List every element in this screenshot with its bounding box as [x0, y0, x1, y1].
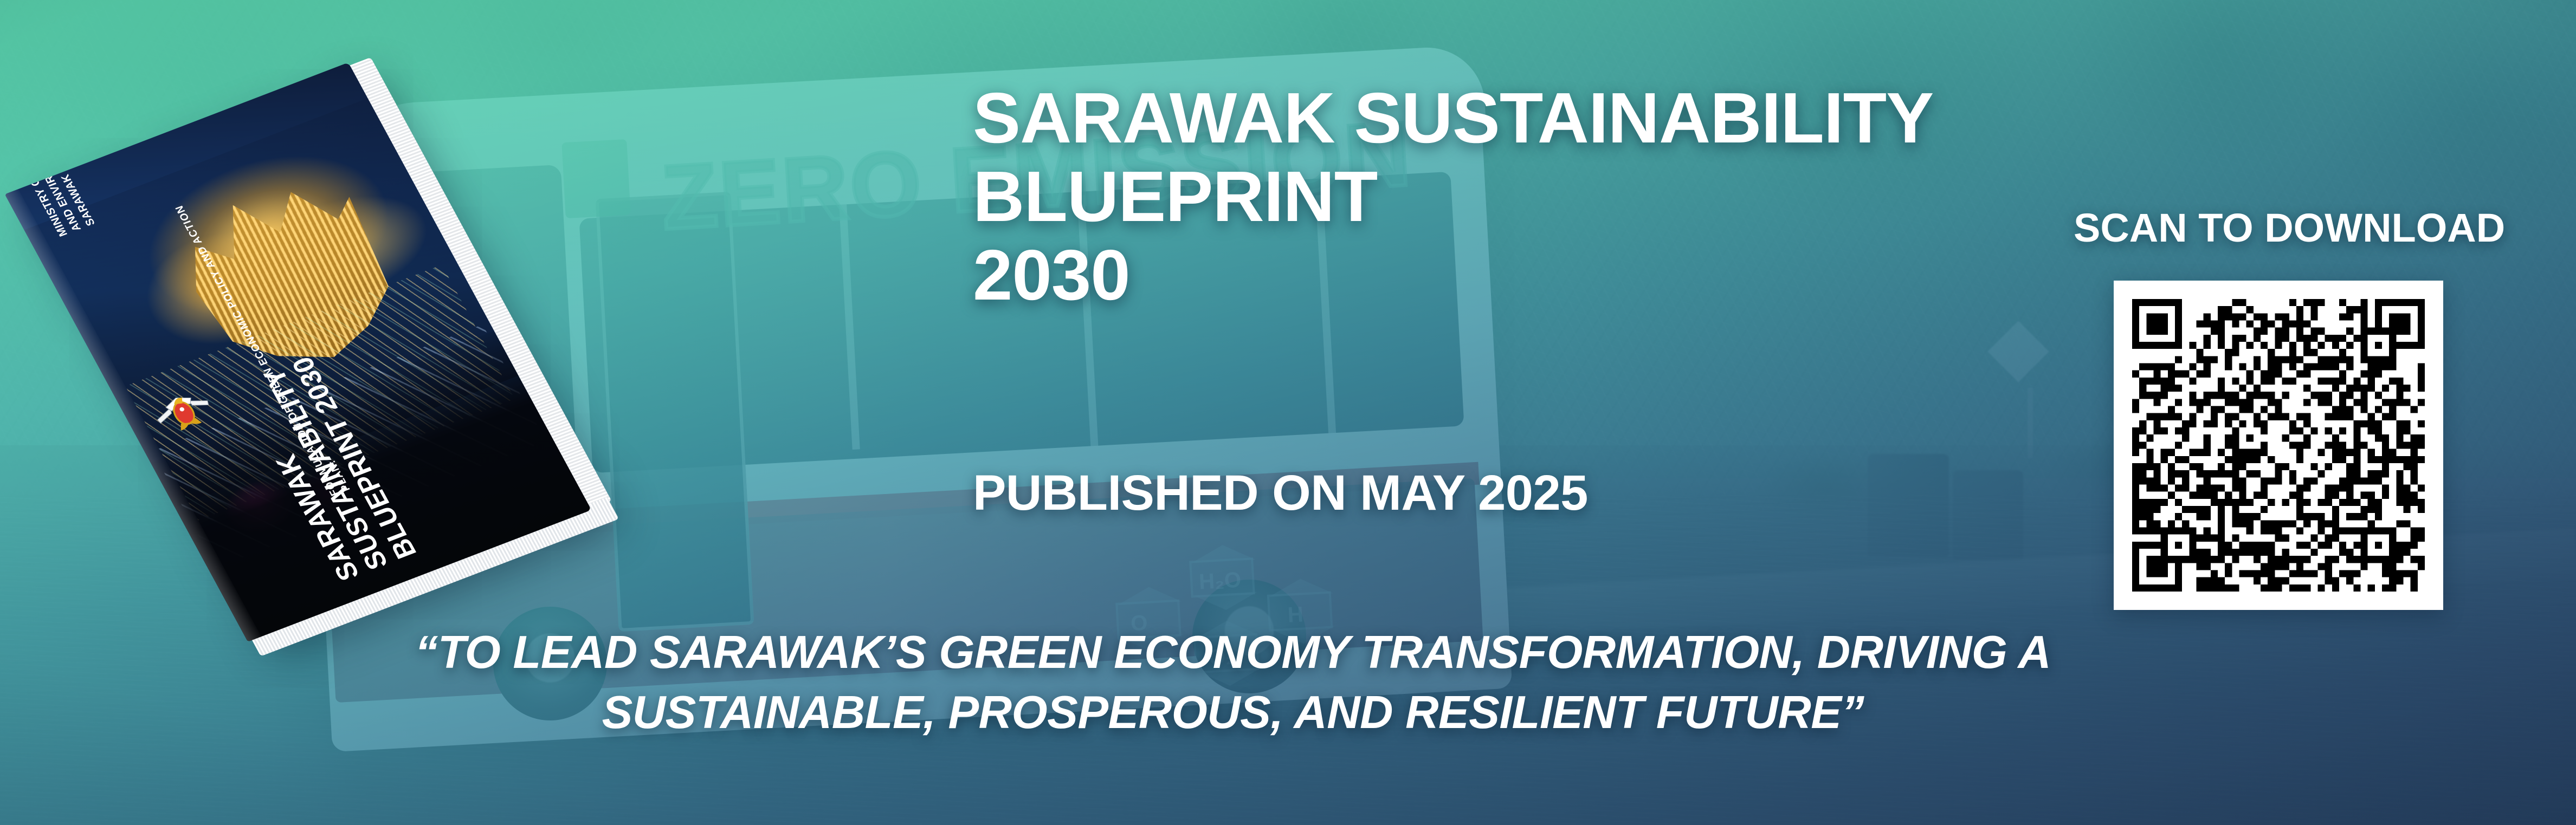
- page-title: SARAWAK SUSTAINABILITY BLUEPRINT 2030: [973, 79, 2068, 315]
- qr-code[interactable]: [2114, 281, 2443, 610]
- published-date: PUBLISHED ON MAY 2025: [973, 465, 1588, 522]
- sarawak-blueprint-banner: ZERO EMISSION O H₂O O₂ H: [0, 0, 2576, 825]
- book-3d: MINISTRY OF ENERGY AND ENVIRONMENTAL SUS…: [5, 62, 591, 641]
- vision-quote: “TO LEAD SARAWAK’S GREEN ECONOMY TRANSFO…: [379, 623, 2087, 743]
- scan-to-download-label: SCAN TO DOWNLOAD: [2074, 205, 2505, 251]
- book-mockup: MINISTRY OF ENERGY AND ENVIRONMENTAL SUS…: [87, 65, 856, 683]
- qr-code-canvas[interactable]: [2132, 299, 2425, 592]
